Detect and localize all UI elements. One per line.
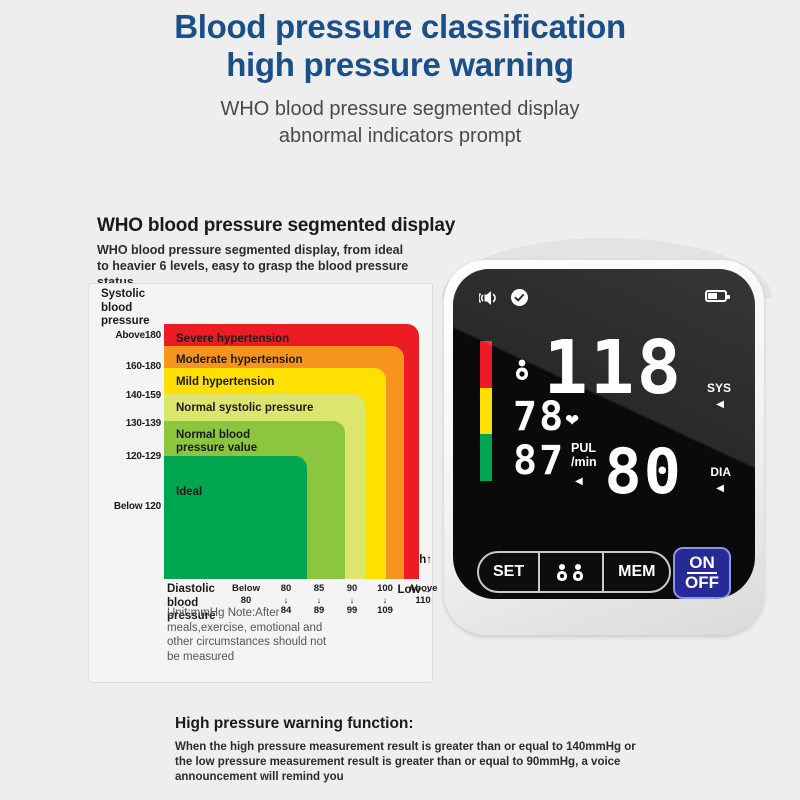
strip-seg-4 <box>365 544 385 579</box>
indicator-seg-red <box>480 341 492 388</box>
person-icon <box>513 359 531 386</box>
chart-step-ideal: Ideal <box>164 456 307 544</box>
user-select-button[interactable] <box>538 553 602 591</box>
y-axis-title: Systolicbloodpressure <box>101 288 171 329</box>
power-on-label: ON <box>687 554 717 574</box>
page-title-line-1: Blood pressure classification <box>0 8 800 46</box>
y-tick-4: 120-129 <box>91 451 161 462</box>
who-title: WHO blood pressure segmented display <box>97 215 455 237</box>
strip-seg-1 <box>164 544 307 579</box>
diastolic-pointer-icon: ◀ <box>716 483 724 494</box>
speaker-icon <box>479 290 501 311</box>
systolic-pointer-icon: ◀ <box>716 399 724 410</box>
page-title-line-2: high pressure warning <box>0 46 800 84</box>
pulse-pointer-icon: ◀ <box>575 476 583 487</box>
footer-text: When the high pressure measurement resul… <box>175 740 655 785</box>
y-tick-1: 160-180 <box>91 361 161 372</box>
battery-icon <box>705 290 727 302</box>
footer-title: High pressure warning function: <box>175 715 655 733</box>
y-tick-3: 130-139 <box>91 418 161 429</box>
pulse-secondary-value: 78 <box>513 397 565 437</box>
x-tick-4: 100 ↓ 109 <box>369 583 401 617</box>
chart-step-label-4: Mild hypertension <box>176 376 274 389</box>
mem-button[interactable]: MEM <box>602 553 669 591</box>
set-button[interactable]: SET <box>479 553 538 591</box>
strip-seg-3 <box>345 544 365 579</box>
footer-section: High pressure warning function: When the… <box>175 715 655 785</box>
classification-indicator-bar <box>480 341 492 481</box>
chart-step-label-1: Ideal <box>176 486 202 499</box>
check-icon <box>511 289 528 311</box>
x-tick-0: Below 80 <box>224 583 268 607</box>
strip-seg-2 <box>307 544 345 579</box>
strip-seg-5 <box>386 544 404 579</box>
pulse-unit-label: PUL /min <box>571 441 597 469</box>
chart-step-label-3: Normal systolic pressure <box>176 402 313 415</box>
strip-seg-6 <box>404 544 419 579</box>
chart-step-label-2: Normal blood pressure value <box>176 429 257 455</box>
status-icon-row <box>479 289 528 311</box>
indicator-seg-yellow <box>480 388 492 435</box>
who-section-heading: WHO blood pressure segmented display WHO… <box>97 215 455 290</box>
x-tick-3: 90 ↓ 99 <box>338 583 366 617</box>
device-body: 118 SYS ◀ 80 DIA ◀ 78 ❤ 87 PUL /min ◀ SE… <box>444 260 764 635</box>
chart-step-label-6: Severe hypertension <box>176 333 289 346</box>
power-button[interactable]: ON OFF <box>673 547 731 599</box>
y-tick-0: Above180 <box>91 330 161 341</box>
chart-notes: Unit:mmHg Note:After meals,exercise, emo… <box>167 606 327 664</box>
pulse-rate-value: 87 <box>513 441 565 481</box>
bp-classification-chart: Systolicbloodpressure Above180 160-180 1… <box>88 283 433 683</box>
indicator-seg-green <box>480 434 492 481</box>
chart-plot-area: Severe hypertension Moderate hypertensio… <box>164 324 419 544</box>
diastolic-label: DIA <box>710 465 731 479</box>
page-header: Blood pressure classification high press… <box>0 0 800 150</box>
y-axis-ticks: Above180 160-180 140-159 130-139 120-129… <box>89 324 161 544</box>
device-screen: 118 SYS ◀ 80 DIA ◀ 78 ❤ 87 PUL /min ◀ SE… <box>453 269 755 599</box>
device-button-group: SET MEM <box>477 551 671 593</box>
power-off-label: OFF <box>685 574 719 592</box>
page-subtitle-line-1: WHO blood pressure segmented display <box>0 96 800 123</box>
y-tick-2: 140-159 <box>91 390 161 401</box>
y-tick-5: Below 120 <box>91 501 161 512</box>
page-subtitle: WHO blood pressure segmented display abn… <box>0 96 800 150</box>
page-subtitle-line-2: abnormal indicators prompt <box>0 123 800 150</box>
chart-step-label-5: Moderate hypertension <box>176 354 303 367</box>
heart-icon: ❤ <box>565 411 579 431</box>
diastolic-value: 80 <box>604 441 683 503</box>
chart-color-strip <box>164 544 419 579</box>
systolic-label: SYS <box>707 381 731 395</box>
blood-pressure-monitor-device: 118 SYS ◀ 80 DIA ◀ 78 ❤ 87 PUL /min ◀ SE… <box>432 260 777 640</box>
